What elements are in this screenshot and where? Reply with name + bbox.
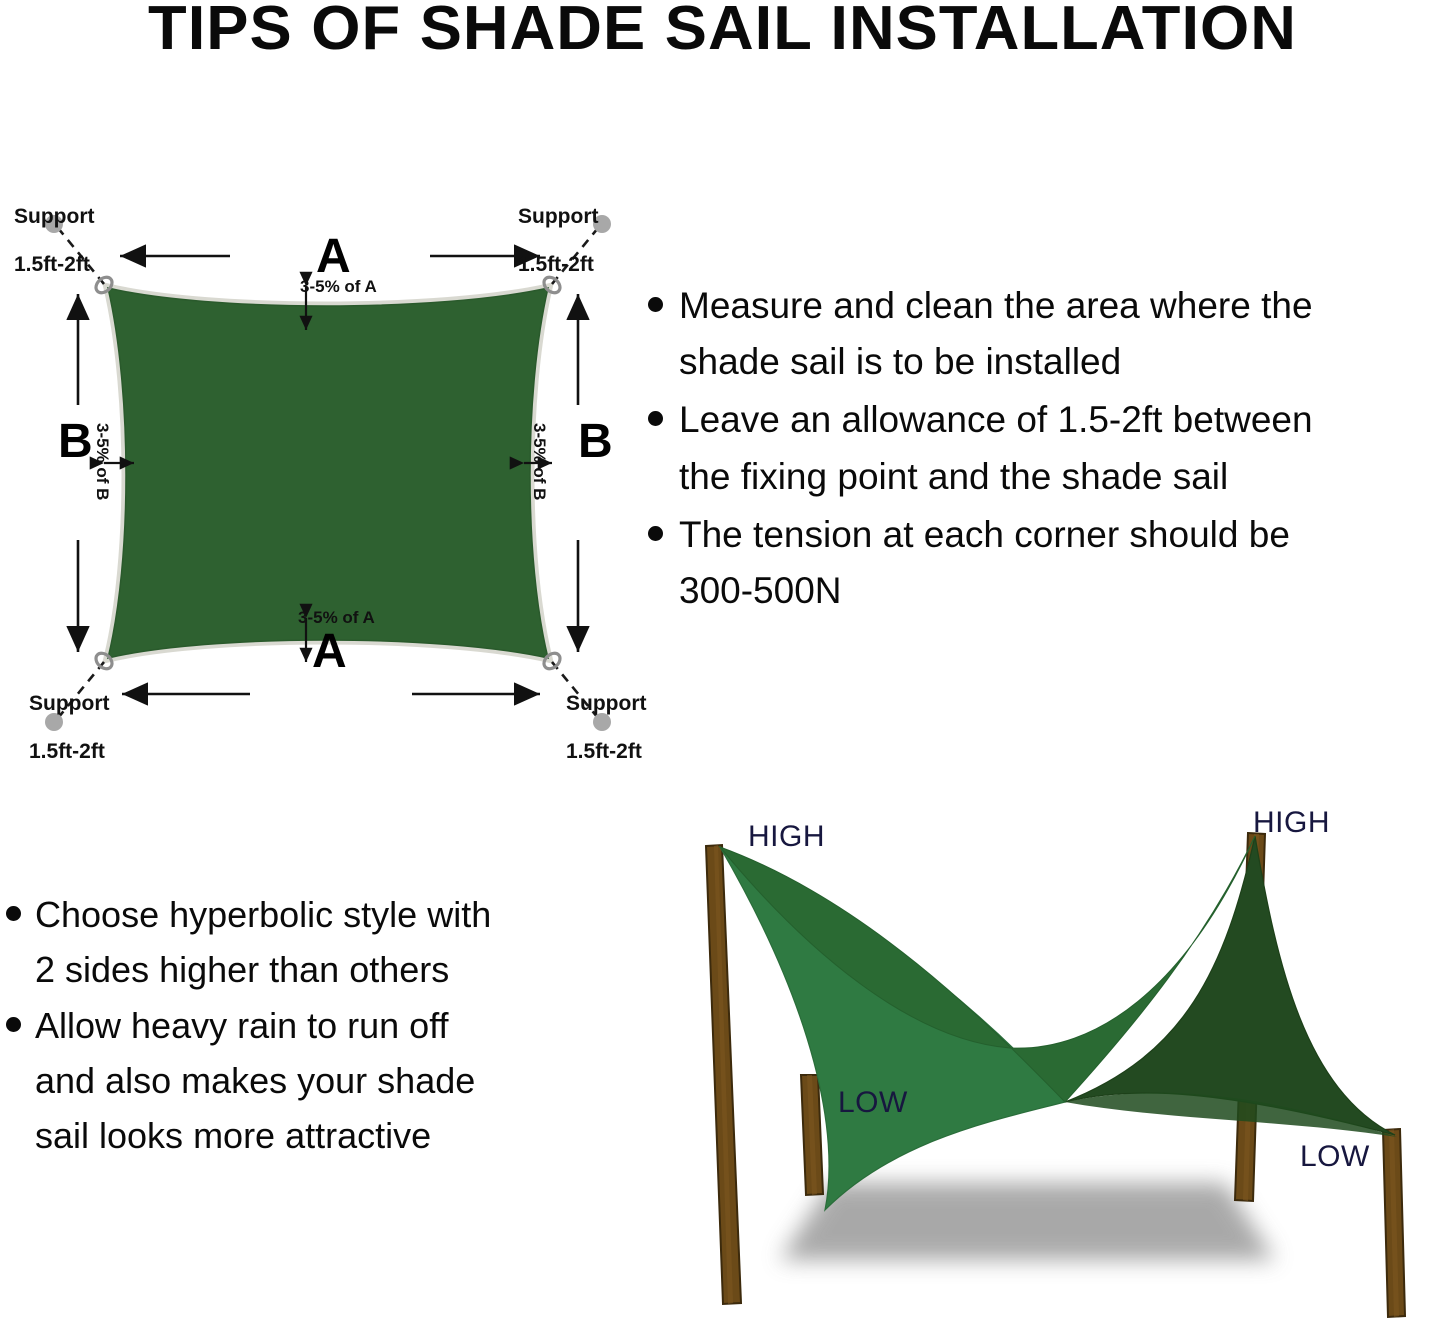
label-low-left: LOW [838,1086,908,1120]
list-item: Leave an allowance of 1.5-2ft between th… [648,392,1445,504]
list-item-text: Measure and clean the area where the sha… [679,278,1445,390]
curvature-label-top: 3-5% of A [300,277,377,297]
label-low-right: LOW [1300,1140,1370,1174]
list-item-text: The tension at each corner should be 300… [679,507,1445,619]
support-label-line2: 1.5ft-2ft [29,740,105,763]
ground-shadow [780,1183,1275,1260]
sail-body [108,288,548,658]
bullet-dot-icon [6,1017,21,1032]
dimension-label-height-left: B [58,418,93,466]
support-label-bottom-left: Support 1.5ft-2ft [29,668,109,765]
label-high-right: HIGH [1253,806,1330,840]
sail-surface-dark [1065,836,1395,1135]
list-item-text: Leave an allowance of 1.5-2ft between th… [679,392,1445,504]
list-item: Measure and clean the area where the sha… [648,278,1445,390]
dimension-label-width-top: A [316,233,351,281]
infographic-page: TIPS OF SHADE SAIL INSTALLATION [0,0,1445,1319]
support-label-bottom-right: Support 1.5ft-2ft [566,668,646,765]
post-high-left [706,845,741,1304]
list-item: Allow heavy rain to run off and also mak… [0,999,620,1163]
hyperbolic-sail-graphic [665,790,1445,1319]
bullet-dot-icon [6,906,21,921]
list-item: Choose hyperbolic style with 2 sides hig… [0,888,620,997]
bullet-dot-icon [648,411,663,426]
bullet-dot-icon [648,526,663,541]
list-item-text: Allow heavy rain to run off and also mak… [35,999,620,1163]
support-label-line1: Support [29,692,109,715]
support-label-line2: 1.5ft-2ft [14,253,90,276]
post-low-left [801,1075,823,1195]
curvature-label-right: 3-5% of B [529,423,549,500]
support-label-line2: 1.5ft-2ft [566,740,642,763]
support-label-top-left: Support 1.5ft-2ft [14,181,94,278]
curvature-label-bottom: 3-5% of A [298,608,375,628]
tips-list-bottom-left: Choose hyperbolic style with 2 sides hig… [0,888,620,1166]
support-label-line1: Support [566,692,646,715]
dimension-label-width-bottom: A [312,628,347,676]
post-low-right [1383,1129,1405,1317]
support-label-line2: 1.5ft-2ft [518,253,594,276]
support-label-line1: Support [518,205,598,228]
support-label-line1: Support [14,205,94,228]
page-title: TIPS OF SHADE SAIL INSTALLATION [0,0,1445,61]
tips-list-top-right: Measure and clean the area where the sha… [648,278,1445,621]
list-item: The tension at each corner should be 300… [648,507,1445,619]
dimension-label-height-right: B [578,418,613,466]
list-item-text: Choose hyperbolic style with 2 sides hig… [35,888,620,997]
bullet-dot-icon [648,297,663,312]
curvature-label-left: 3-5% of B [92,423,112,500]
label-high-left: HIGH [748,820,825,854]
support-label-top-right: Support 1.5ft-2ft [518,181,598,278]
